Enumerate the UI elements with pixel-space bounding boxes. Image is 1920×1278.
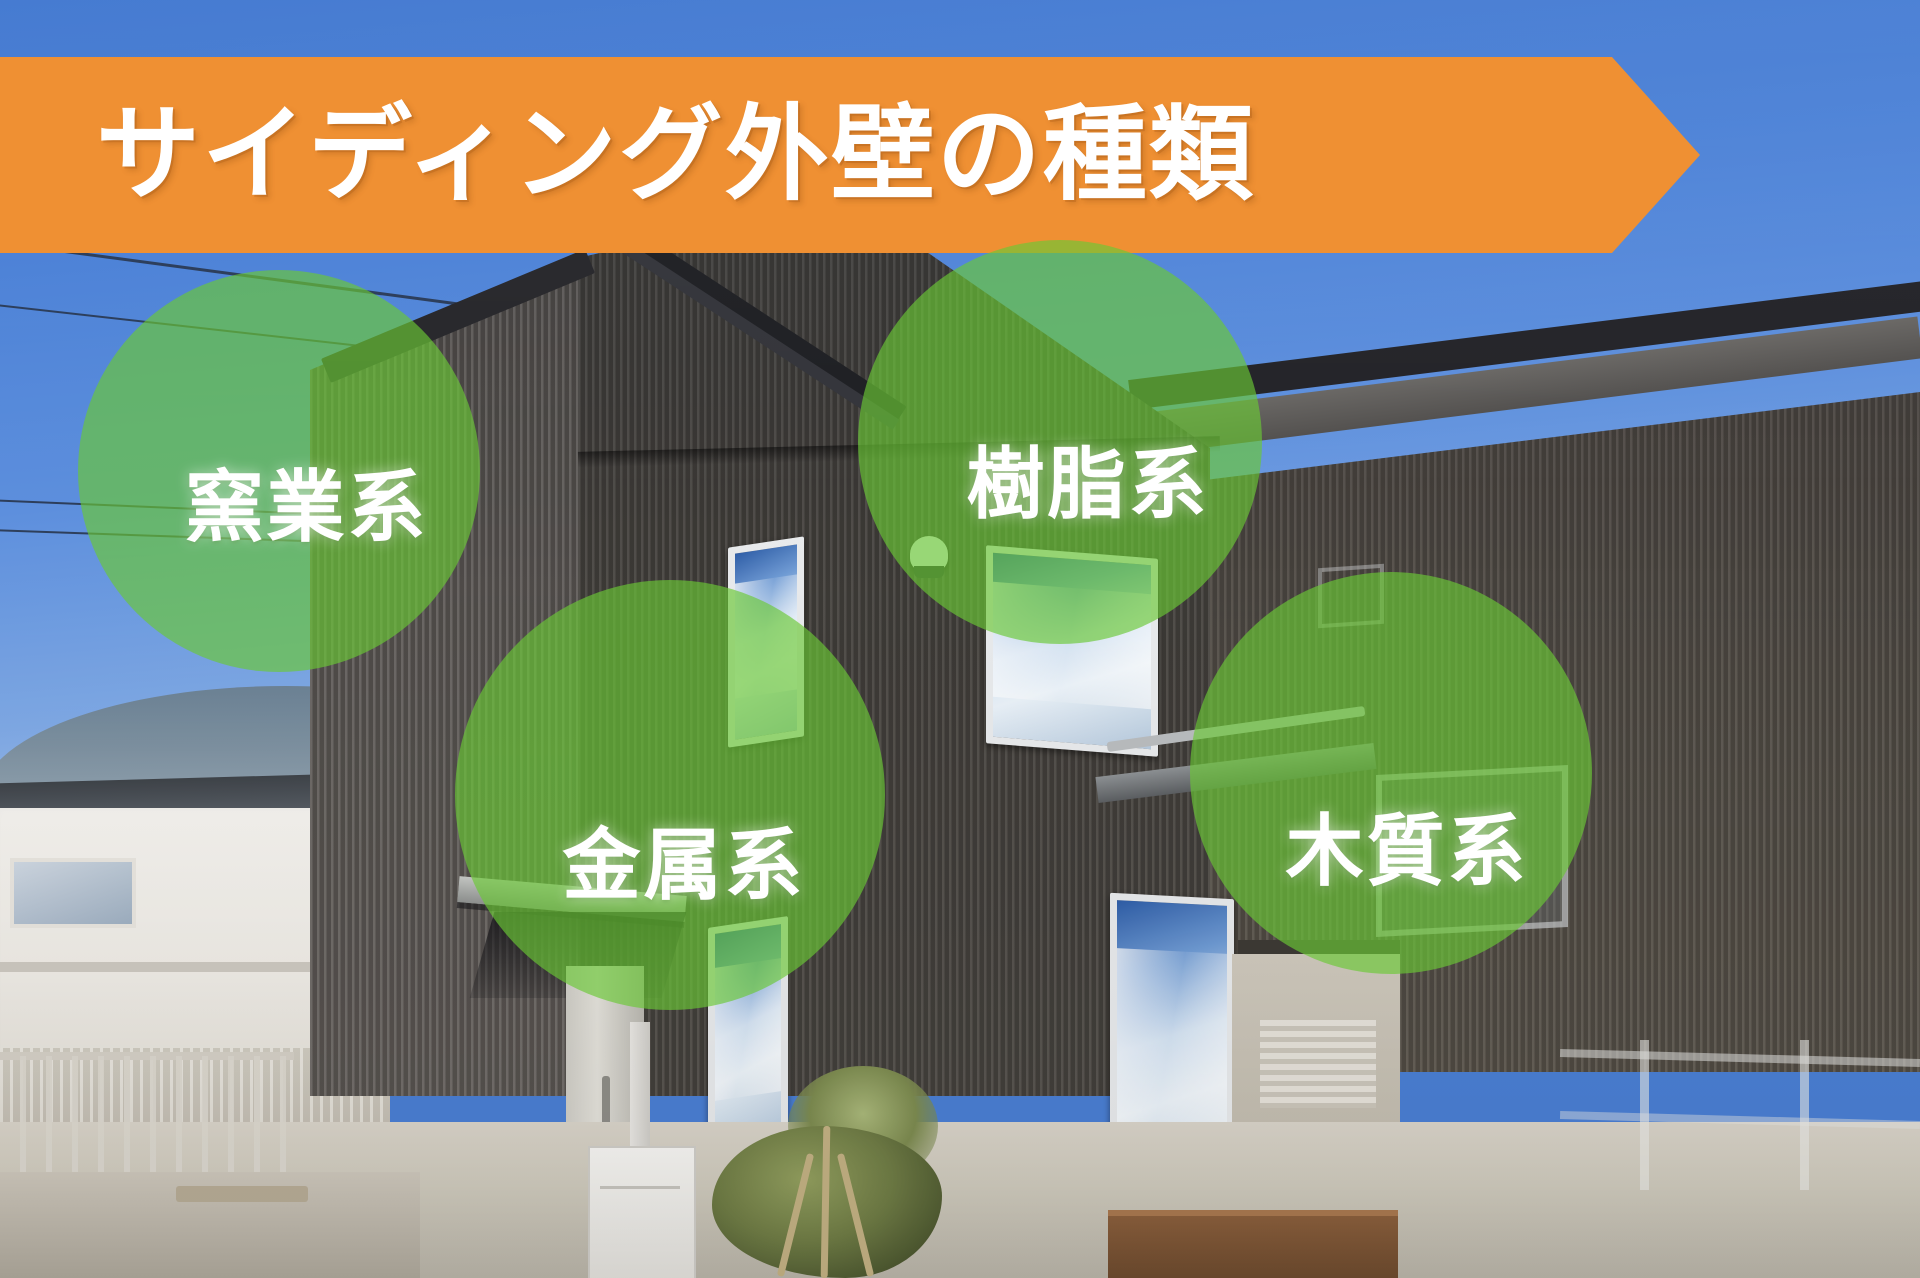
wood-planter bbox=[1108, 1216, 1398, 1278]
page-title: サイディング外壁の種類 bbox=[96, 103, 1255, 207]
bubble-label: 金属系 bbox=[562, 826, 805, 904]
wall-fixture-icon bbox=[1222, 1010, 1248, 1036]
bubble-label: 木質系 bbox=[1285, 812, 1528, 890]
neighbor-house-window bbox=[10, 858, 136, 928]
bubble-wood-siding[interactable]: 木質系 bbox=[1190, 572, 1592, 974]
bubble-label: 窯業系 bbox=[185, 468, 428, 546]
fence bbox=[0, 1056, 294, 1172]
title-banner: サイディング外壁の種類 bbox=[0, 57, 1700, 253]
bubble-label: 樹脂系 bbox=[966, 445, 1209, 523]
bubble-ceramic-siding[interactable]: 窯業系 bbox=[78, 270, 480, 672]
bench bbox=[176, 1186, 308, 1202]
bubble-resin-siding[interactable]: 樹脂系 bbox=[858, 240, 1262, 644]
right-fence-post bbox=[1640, 1040, 1649, 1190]
wall-vent-grille-icon bbox=[1260, 1020, 1376, 1108]
right-fence-post bbox=[1800, 1040, 1809, 1190]
entry-post bbox=[630, 1022, 650, 1152]
utility-box bbox=[588, 1146, 696, 1278]
utility-box-seam bbox=[600, 1186, 680, 1189]
bubble-metal-siding[interactable]: 金属系 bbox=[455, 580, 885, 1010]
slide-canvas: サイディング外壁の種類 窯業系 樹脂系 金属系 木質系 bbox=[0, 0, 1920, 1278]
